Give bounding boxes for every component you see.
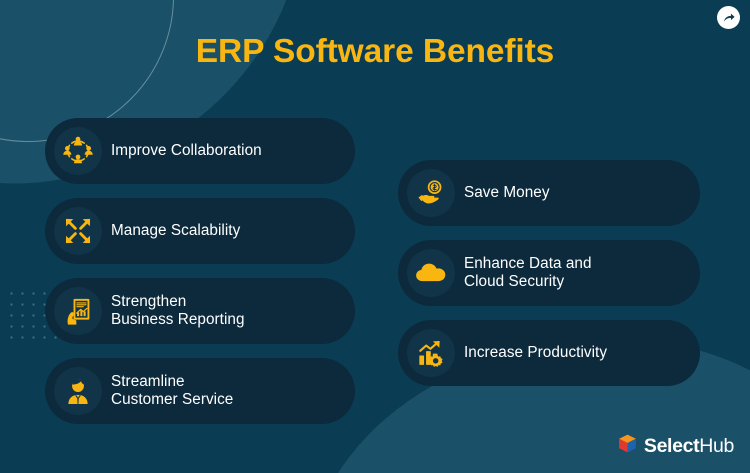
benefit-card-label: Manage Scalability: [111, 222, 240, 241]
benefit-card-label: Increase Productivity: [464, 344, 607, 363]
collaboration-network-icon: [54, 127, 102, 175]
share-arrow-icon: [722, 11, 736, 25]
benefit-card-manage-scalability[interactable]: Manage Scalability: [45, 198, 355, 264]
benefit-card-enhance-data-cloud-security[interactable]: Enhance Data and Cloud Security: [398, 240, 700, 306]
benefit-card-save-money[interactable]: Save Money: [398, 160, 700, 226]
benefits-column-right: Save Money Enhance Data and Cloud Securi…: [398, 160, 700, 386]
hand-holding-coin-icon: [407, 169, 455, 217]
benefit-card-streamline-customer-service[interactable]: Streamline Customer Service: [45, 358, 355, 424]
benefit-card-label: Strengthen Business Reporting: [111, 293, 245, 330]
infographic-canvas: ERP Software Benefits: [0, 0, 750, 473]
benefit-card-strengthen-business-reporting[interactable]: Strengthen Business Reporting: [45, 278, 355, 344]
expand-arrows-icon: [54, 207, 102, 255]
benefit-card-label: Enhance Data and Cloud Security: [464, 255, 592, 292]
benefits-column-left: Improve Collaboration: [45, 118, 355, 424]
selecthub-cube-icon: [617, 433, 638, 459]
benefit-card-label: Streamline Customer Service: [111, 373, 233, 410]
benefit-card-improve-collaboration[interactable]: Improve Collaboration: [45, 118, 355, 184]
benefit-card-label: Improve Collaboration: [111, 142, 262, 161]
logo-name-bold: Select: [644, 435, 699, 458]
growth-chart-gear-icon: [407, 329, 455, 377]
benefit-card-increase-productivity[interactable]: Increase Productivity: [398, 320, 700, 386]
benefit-card-label: Save Money: [464, 184, 550, 203]
logo-name-light: Hub: [699, 435, 734, 458]
cloud-icon: [407, 249, 455, 297]
share-button[interactable]: [717, 6, 740, 29]
selecthub-wordmark: SelectHub: [644, 435, 734, 458]
selecthub-logo[interactable]: SelectHub: [617, 433, 734, 459]
hand-holding-report-icon: [54, 287, 102, 335]
page-title: ERP Software Benefits: [0, 33, 750, 71]
support-agent-icon: [54, 367, 102, 415]
